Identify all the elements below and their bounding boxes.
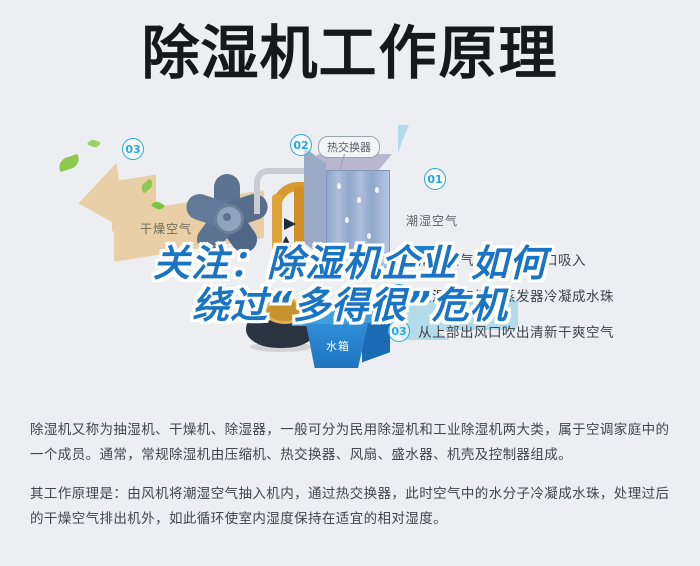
heat-exchanger-callout: 热交换器 [318, 136, 380, 158]
diagram-badge-02: 02 [290, 134, 312, 156]
step-badge: 03 [388, 320, 410, 342]
step-badge: 02 [388, 284, 410, 306]
heat-exchanger-callout-text: 热交换器 [318, 136, 380, 158]
list-item: 03 从上部出风口吹出清新干爽空气 [388, 320, 688, 342]
step-text: 从上部出风口吹出清新干爽空气 [418, 321, 614, 341]
poster-root: 除湿机工作原理 干燥空气 [0, 0, 700, 566]
step-list: 01 潮湿空气由下部进风口吸入 02 潮湿空气经过蒸发器冷凝成水珠 03 从上部… [388, 248, 688, 356]
diagram-badge-01: 01 [424, 168, 446, 190]
step-text: 潮湿空气由下部进风口吸入 [418, 249, 586, 269]
flow-arrow-up-icon [280, 236, 292, 248]
step-badge: 01 [388, 248, 410, 270]
title-part-1: 除湿机 [141, 19, 318, 87]
body-paragraph-1: 除湿机又称为抽湿机、干燥机、除湿器，一般可分为民用除湿机和工业除湿机两大类，属于… [30, 418, 678, 468]
list-item: 01 潮湿空气由下部进风口吸入 [388, 248, 688, 270]
body-paragraph-2: 其工作原理是：由风机将潮湿空气抽入机内，通过热交换器，此时空气中的水分子冷凝成水… [30, 482, 678, 532]
water-tank: 水箱 [300, 310, 392, 376]
title-part-2: 工作原理 [319, 19, 559, 87]
water-tank-label: 水箱 [326, 338, 350, 354]
page-title: 除湿机工作原理 [0, 22, 700, 84]
flow-arrow-right-icon [284, 218, 296, 230]
diagram-badge-03: 03 [122, 138, 144, 160]
moist-air-label: 潮湿空气 [406, 212, 458, 229]
leaf-icon [87, 138, 101, 149]
article-body: 除湿机又称为抽湿机、干燥机、除湿器，一般可分为民用除湿机和工业除湿机两大类，属于… [30, 418, 678, 532]
list-item: 02 潮湿空气经过蒸发器冷凝成水珠 [388, 284, 688, 306]
step-text: 潮湿空气经过蒸发器冷凝成水珠 [418, 285, 614, 305]
